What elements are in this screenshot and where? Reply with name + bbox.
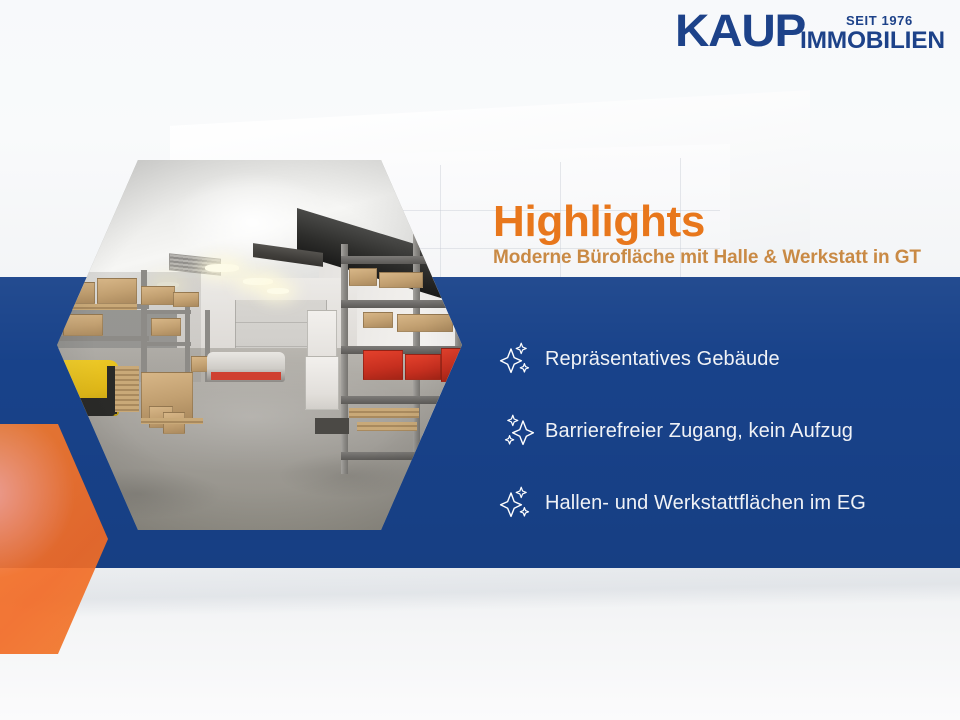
- brand-secondary: SEIT 1976 IMMOBILIEN: [800, 14, 942, 53]
- list-item-label: Barrierefreier Zugang, kein Aufzug: [545, 418, 853, 444]
- title-block: Highlights Moderne Bürofläche mit Halle …: [493, 198, 913, 270]
- photo-vignette: [57, 160, 462, 530]
- slide-root: KAUP SEIT 1976 IMMOBILIEN: [0, 0, 960, 720]
- list-item: Repräsentatives Gebäude: [489, 323, 929, 395]
- list-item-label: Repräsentatives Gebäude: [545, 346, 780, 372]
- brand-since-text: SEIT 1976: [846, 14, 913, 28]
- page-subtitle: Moderne Bürofläche mit Halle & Werkstatt…: [493, 246, 913, 270]
- brand-category-text: IMMOBILIEN: [800, 28, 945, 53]
- highlights-list: Repräsentatives Gebäude Barrierefreier Z…: [489, 323, 929, 539]
- sparkle-icon: [489, 411, 545, 451]
- background-panel-line: [440, 165, 441, 280]
- list-item-label: Hallen- und Werkstattflächen im EG: [545, 490, 866, 516]
- sparkle-icon: [489, 483, 545, 523]
- sparkle-icon: [489, 339, 545, 379]
- brand-name: KAUP: [675, 8, 805, 54]
- list-item: Hallen- und Werkstattflächen im EG: [489, 467, 929, 539]
- page-title: Highlights: [493, 198, 913, 246]
- list-item: Barrierefreier Zugang, kein Aufzug: [489, 395, 929, 467]
- hero-photo-hexagon: [57, 160, 462, 530]
- brand-logo[interactable]: KAUP SEIT 1976 IMMOBILIEN: [675, 8, 942, 54]
